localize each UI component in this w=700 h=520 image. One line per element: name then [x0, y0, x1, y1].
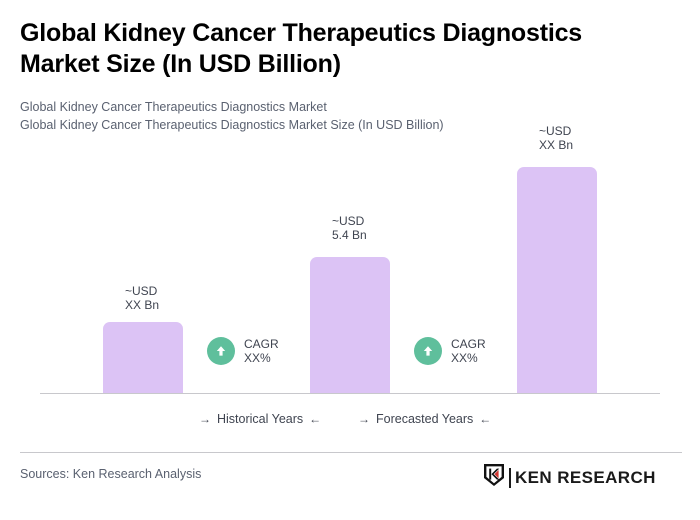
- cagr-badge-forecasted: CAGRXX%: [414, 337, 486, 365]
- bar-historical: [103, 322, 183, 393]
- cagr-title-forecasted: CAGR: [451, 337, 486, 351]
- footer-divider: [20, 452, 682, 453]
- up-arrow-icon: [414, 337, 442, 365]
- arrow-left-icon: ←: [479, 411, 491, 427]
- axis-baseline: [40, 393, 660, 394]
- cagr-label-forecasted: CAGRXX%: [451, 337, 486, 365]
- cagr-title-historical: CAGR: [244, 337, 279, 351]
- ken-research-logo: KEN RESEARCH: [483, 463, 656, 492]
- cagr-value-historical: XX%: [244, 351, 271, 365]
- chart-page: Global Kidney Cancer Therapeutics Diagno…: [0, 0, 700, 520]
- bar-label-historical: ~USD XX Bn: [125, 284, 245, 312]
- up-arrow-icon: [207, 337, 235, 365]
- cagr-label-historical: CAGRXX%: [244, 337, 279, 365]
- cagr-badge-historical: CAGRXX%: [207, 337, 279, 365]
- bar-label-forecasted: ~USD XX Bn: [539, 124, 659, 152]
- bar-base-year: [310, 257, 390, 393]
- ken-research-logo-text: KEN RESEARCH: [515, 468, 656, 488]
- period-label-historical: Historical Years: [217, 411, 303, 427]
- period-forecasted-years: → Forecasted Years ←: [358, 411, 491, 427]
- period-label-forecasted: Forecasted Years: [376, 411, 473, 427]
- logo-divider: [509, 468, 511, 488]
- ken-research-logo-mark: [483, 463, 505, 492]
- bar-label-base-year: ~USD 5.4 Bn: [332, 214, 452, 242]
- cagr-value-forecasted: XX%: [451, 351, 478, 365]
- chart-plot-area: ~USD XX Bn ~USD 5.4 Bn ~USD XX Bn CAGRXX…: [0, 0, 700, 400]
- bar-forecasted: [517, 167, 597, 393]
- arrow-right-icon: →: [199, 411, 211, 427]
- arrow-right-icon: →: [358, 411, 370, 427]
- period-historical-years: → Historical Years ←: [199, 411, 321, 427]
- arrow-left-icon: ←: [309, 411, 321, 427]
- sources-note: Sources: Ken Research Analysis: [20, 466, 201, 482]
